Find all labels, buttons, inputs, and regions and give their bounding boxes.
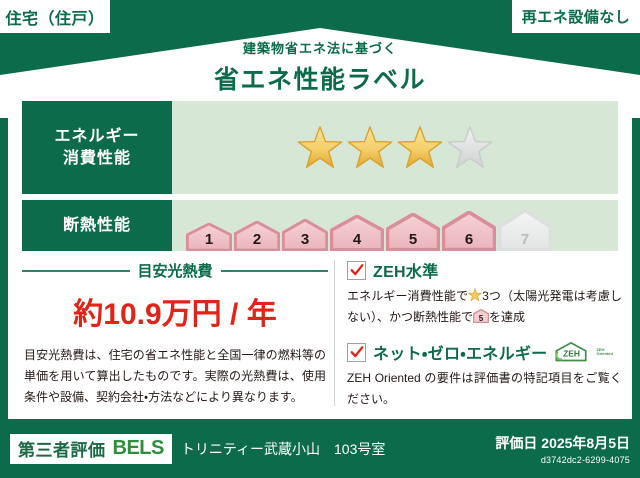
insulation-grade-scale: 1 2 3 4 5 [172, 200, 618, 251]
energy-label-line2: 消費性能 [63, 148, 131, 170]
zeh-column: ZEH水準 エネルギー消費性能で3つ（太陽光発電は考慮しない）、かつ断熱性能で5… [345, 258, 622, 408]
house-grade-number: 5 [409, 232, 417, 251]
insulation-performance-label-box: 断熱性能 [22, 200, 172, 251]
house-grade-list: 1 2 3 4 5 [186, 207, 552, 251]
zeh-logo-caption: ZEH Oriented [596, 348, 612, 356]
energy-performance-label-box: エネルギー 消費性能 [22, 101, 172, 194]
house-grade-number: 6 [465, 232, 473, 251]
bels-logo-jp: 第三者評価 [18, 436, 106, 461]
house-icon-grade-7: 7 [498, 209, 552, 251]
house-icon-grade-6: 6 [442, 211, 496, 251]
column-divider [334, 260, 335, 406]
bels-logo-en: BELS [113, 437, 164, 460]
energy-label-line1: エネルギー [54, 126, 139, 148]
header-text-group: 建築物省エネ法に基づく 省エネ性能ラベル [0, 38, 640, 96]
house-grade-number: 7 [521, 232, 529, 251]
house-icon-inline-grade-5: 5 [473, 309, 489, 323]
zeh-logo-icon: ZEH [554, 341, 588, 363]
energy-performance-label: 建築物省エネ法に基づく 省エネ性能ラベル 住宅（住戸） 再エネ設備なし エネルギ… [0, 0, 640, 478]
star-icon-inline [468, 288, 482, 302]
zeh-standard-description: エネルギー消費性能で3つ（太陽光発電は考慮しない）、かつ断熱性能で5を達成 [347, 286, 622, 328]
property-name: トリニティー武蔵小山 103号室 [181, 439, 386, 459]
rule-right [221, 270, 329, 272]
zeh-standard-title: ZEH水準 [373, 258, 439, 282]
utility-cost-amount: 約10.9万円 / 年 [22, 289, 328, 333]
main-panel: エネルギー 消費性能 断熱性能 [8, 92, 632, 419]
bels-logo: 第三者評価 BELS [10, 434, 172, 464]
header-subtitle: 建築物省エネ法に基づく [0, 38, 640, 57]
energy-performance-row: エネルギー 消費性能 [22, 101, 618, 194]
insulation-performance-row: 断熱性能 1 2 3 [22, 200, 618, 251]
evaluation-date: 評価日 2025年8月5日 [495, 433, 630, 453]
house-grade-number: 1 [205, 232, 213, 251]
energy-star-rating [172, 101, 618, 194]
house-icon-grade-2: 2 [234, 221, 280, 251]
zeh-desc-part1: エネルギー消費性能で [347, 289, 468, 303]
house-grade-number: 2 [253, 232, 261, 251]
zeh-netzero-description: ZEH Oriented の要件は評価書の特記項目をご覧ください。 [347, 368, 622, 410]
rule-left [22, 270, 130, 272]
house-grade-number: 4 [353, 232, 361, 251]
zeh-netzero-block: ネット・ゼロ・エネルギー ZEH ZEH Oriented [347, 340, 622, 410]
house-icon-grade-3: 3 [282, 219, 328, 251]
house-icon-grade-1: 1 [186, 223, 232, 251]
footer-bar: 第三者評価 BELS トリニティー武蔵小山 103号室 評価日 2025年8月5… [0, 419, 640, 478]
evaluation-id: d3742dc2-6299-4075 [495, 455, 630, 465]
renewable-equipment-tag: 再エネ設備なし [512, 0, 640, 33]
lower-section: 目安光熱費 約10.9万円 / 年 目安光熱費は、住宅の省エネ性能と全国一律の燃… [22, 258, 622, 408]
zeh-netzero-title-row: ネット・ゼロ・エネルギー ZEH ZEH Oriented [347, 340, 622, 364]
svg-text:ZEH: ZEH [564, 349, 581, 359]
zeh-netzero-title: ネット・ゼロ・エネルギー [373, 340, 547, 364]
checkmark-icon-zeh-netzero [347, 343, 366, 362]
utility-cost-note: 目安光熱費は、住宅の省エネ性能と全国一律の燃料等の単価を用いて算出したものです。… [22, 345, 328, 408]
building-type-tag: 住宅（住戸） [0, 0, 110, 33]
house-icon-grade-5: 5 [386, 213, 440, 251]
header-title: 省エネ性能ラベル [0, 60, 640, 96]
insulation-label-line1: 断熱性能 [63, 215, 131, 237]
utility-cost-column: 目安光熱費 約10.9万円 / 年 目安光熱費は、住宅の省エネ性能と全国一律の燃… [22, 258, 334, 408]
house-icon-grade-4: 4 [330, 215, 384, 251]
utility-cost-heading: 目安光熱費 [138, 260, 213, 281]
checkmark-icon-zeh-standard [347, 261, 366, 280]
zeh-standard-title-row: ZEH水準 [347, 258, 622, 282]
star-icon-filled-1 [297, 125, 343, 171]
star-icon-filled-2 [347, 125, 393, 171]
house-grade-number: 3 [301, 232, 309, 251]
house-icon-inline-number: 5 [473, 315, 489, 323]
utility-cost-heading-row: 目安光熱費 [22, 260, 328, 281]
zeh-standard-block: ZEH水準 エネルギー消費性能で3つ（太陽光発電は考慮しない）、かつ断熱性能で5… [347, 258, 622, 328]
star-icon-empty-4 [447, 125, 493, 171]
zeh-desc-part3: を達成 [489, 310, 525, 324]
evaluation-info: 評価日 2025年8月5日 d3742dc2-6299-4075 [495, 433, 630, 465]
star-icon-filled-3 [397, 125, 443, 171]
zeh-logo-caption-line2: Oriented [596, 351, 612, 356]
